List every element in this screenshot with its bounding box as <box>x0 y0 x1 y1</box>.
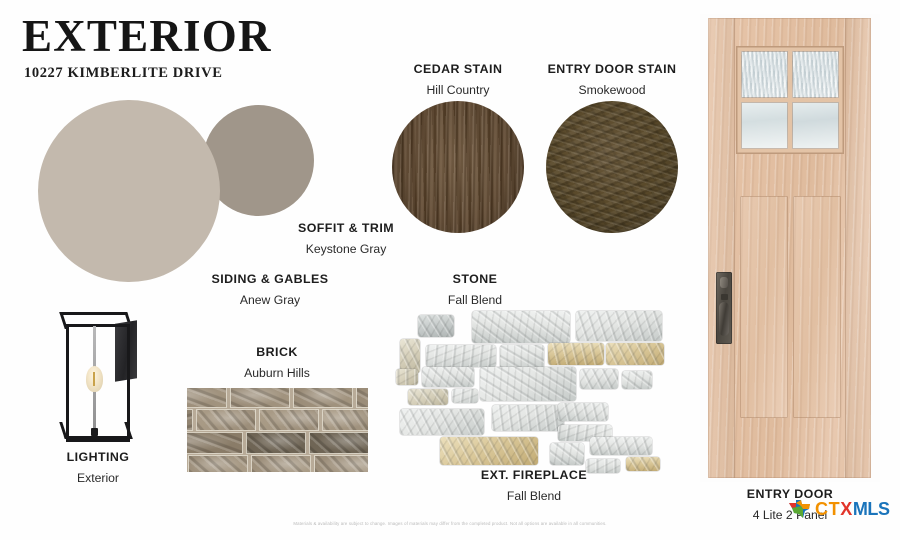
brick-row <box>187 409 368 433</box>
brick-unit <box>251 455 311 472</box>
door-right-stile <box>845 18 872 478</box>
lighting-value: Exterior <box>28 471 168 486</box>
stone-unit <box>548 343 604 365</box>
door-left-stile <box>708 18 735 478</box>
brick-unit <box>314 455 368 472</box>
stone-unit <box>440 437 538 465</box>
stone-unit <box>622 371 652 389</box>
door-lite-3 <box>741 102 788 149</box>
brick-unit <box>293 388 353 408</box>
watermark-mls: MLS <box>853 499 890 520</box>
brick-unit <box>188 455 248 472</box>
siding-gables-value: Anew Gray <box>163 293 377 308</box>
texas-logo-icon <box>787 498 813 520</box>
watermark-t: T <box>829 499 840 520</box>
brick-unit <box>187 432 243 454</box>
brick-value: Auburn Hills <box>177 366 377 381</box>
stone-unit <box>400 339 420 373</box>
brick-unit <box>246 432 306 454</box>
brick-row <box>187 455 368 472</box>
stone-unit <box>550 443 584 465</box>
lighting-label: LIGHTING <box>28 450 168 466</box>
entry-door-stain-texture <box>546 101 678 233</box>
stone-unit <box>590 437 652 455</box>
deadbolt-icon <box>720 277 728 288</box>
lighting-caption: LIGHTING Exterior <box>28 450 168 486</box>
brick-unit <box>187 388 227 408</box>
entry-door-image <box>700 14 880 482</box>
entry-door-stain-label: ENTRY DOOR STAIN <box>512 62 712 78</box>
watermark-c: C <box>815 499 828 520</box>
siding-gables-caption: SIDING & GABLES Anew Gray <box>163 272 377 308</box>
brick-row <box>187 432 368 456</box>
stone-unit <box>422 367 474 387</box>
page-address: 10227 KIMBERLITE DRIVE <box>24 65 272 82</box>
brick-row <box>187 388 368 410</box>
door-lite-2 <box>792 51 839 98</box>
stone-unit <box>580 369 618 389</box>
brick-unit <box>196 409 256 431</box>
stone-unit <box>558 403 608 421</box>
thumb-latch-icon <box>721 294 728 300</box>
entry-door-stain-swatch <box>546 101 678 233</box>
stone-unit <box>396 369 418 385</box>
stone-unit <box>576 311 662 341</box>
stone-unit <box>606 343 664 365</box>
brick-unit <box>187 409 193 431</box>
brick-unit <box>259 409 319 431</box>
stone-swatch <box>400 305 668 465</box>
watermark-x: X <box>840 499 852 520</box>
brick-unit <box>356 388 368 408</box>
fixture-base <box>91 428 98 436</box>
brick-swatch <box>187 388 368 472</box>
stone-caption: STONE Fall Blend <box>400 272 550 308</box>
door-handleset <box>716 272 732 344</box>
stone-unit <box>472 311 570 343</box>
door-handle-icon <box>719 302 729 336</box>
stone-unit <box>426 345 496 367</box>
brick-caption: BRICK Auburn Hills <box>177 345 377 381</box>
cedar-stain-swatch <box>392 101 524 233</box>
entry-door-stain-caption: ENTRY DOOR STAIN Smokewood <box>512 62 712 98</box>
ctxmls-watermark: C T X MLS <box>787 498 890 520</box>
stone-unit <box>480 367 576 401</box>
stone-unit <box>452 389 478 403</box>
brick-unit <box>322 409 368 431</box>
ext-fireplace-caption: EXT. FIREPLACE Fall Blend <box>434 468 634 504</box>
soffit-trim-swatch <box>203 105 314 216</box>
stone-unit <box>400 409 484 435</box>
stone-unit <box>408 389 448 405</box>
door-panel-2 <box>793 196 841 418</box>
stone-unit <box>500 345 544 369</box>
brick-label: BRICK <box>177 345 377 361</box>
door-panel-1 <box>740 196 788 418</box>
page-title: EXTERIOR <box>22 14 272 59</box>
brick-unit <box>309 432 368 454</box>
soffit-trim-value: Keystone Gray <box>246 242 446 257</box>
cedar-stain-texture <box>392 101 524 233</box>
stone-unit <box>418 315 454 337</box>
brick-unit <box>230 388 290 408</box>
ext-fireplace-value: Fall Blend <box>434 489 634 504</box>
fixture-filament <box>93 372 95 386</box>
stone-label: STONE <box>400 272 550 288</box>
exterior-selections-board: EXTERIOR 10227 KIMBERLITE DRIVE SIDING &… <box>0 0 900 540</box>
entry-door-stain-value: Smokewood <box>512 83 712 98</box>
door-lite-frame <box>736 46 844 154</box>
disclaimer-text: Materials & availability are subject to … <box>0 521 900 526</box>
door-lite-4 <box>792 102 839 149</box>
door-lite-1 <box>741 51 788 98</box>
header: EXTERIOR 10227 KIMBERLITE DRIVE <box>22 14 272 82</box>
siding-gables-swatch <box>38 100 220 282</box>
siding-gables-label: SIDING & GABLES <box>163 272 377 288</box>
ext-fireplace-label: EXT. FIREPLACE <box>434 468 634 484</box>
stone-unit <box>492 405 564 431</box>
lighting-fixture-image <box>60 310 138 448</box>
